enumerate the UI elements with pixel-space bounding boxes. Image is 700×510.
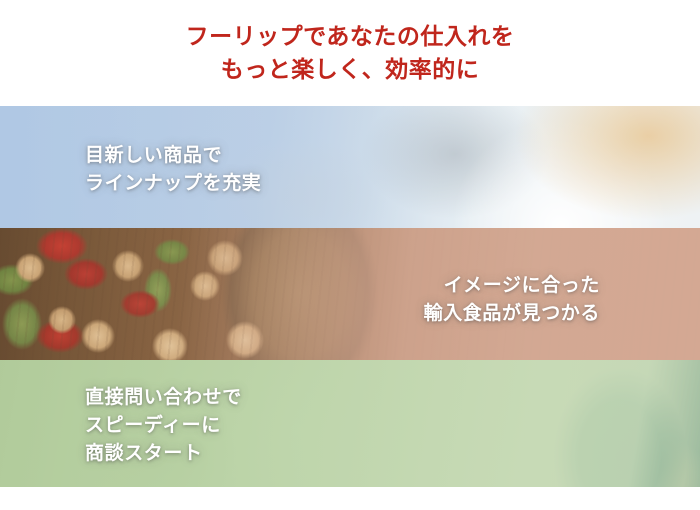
- banner-caption-line: 輸入食品が見つかる: [424, 300, 600, 328]
- feature-banner-lineup[interactable]: 目新しい商品で ラインナップを充実: [0, 106, 700, 228]
- headline-line-1: フーリップであなたの仕入れを: [186, 20, 515, 53]
- banner-caption-line: 商談スタート: [85, 440, 242, 468]
- feature-banner-imported-food[interactable]: イメージに合った 輸入食品が見つかる: [0, 228, 700, 360]
- banner-caption-direct-contact: 直接問い合わせで スピーディーに 商談スタート: [85, 384, 242, 468]
- promo-page: フーリップであなたの仕入れを もっと楽しく、効率的に 目新しい商品で ラインナッ…: [0, 0, 700, 510]
- banner-caption-line: 目新しい商品で: [85, 142, 261, 170]
- banner-caption-line: スピーディーに: [85, 412, 242, 440]
- banner-caption-imported-food: イメージに合った 輸入食品が見つかる: [424, 272, 600, 328]
- banner-caption-line: 直接問い合わせで: [85, 384, 242, 412]
- feature-banner-direct-contact[interactable]: 直接問い合わせで スピーディーに 商談スタート: [0, 360, 700, 487]
- footer-whitespace: [0, 487, 700, 510]
- headline-line-2: もっと楽しく、効率的に: [221, 53, 480, 86]
- banner-caption-line: ラインナップを充実: [85, 170, 261, 198]
- banner-caption-line: イメージに合った: [424, 272, 600, 300]
- banner-caption-lineup: 目新しい商品で ラインナップを充実: [85, 142, 261, 198]
- headline-block: フーリップであなたの仕入れを もっと楽しく、効率的に: [0, 0, 700, 106]
